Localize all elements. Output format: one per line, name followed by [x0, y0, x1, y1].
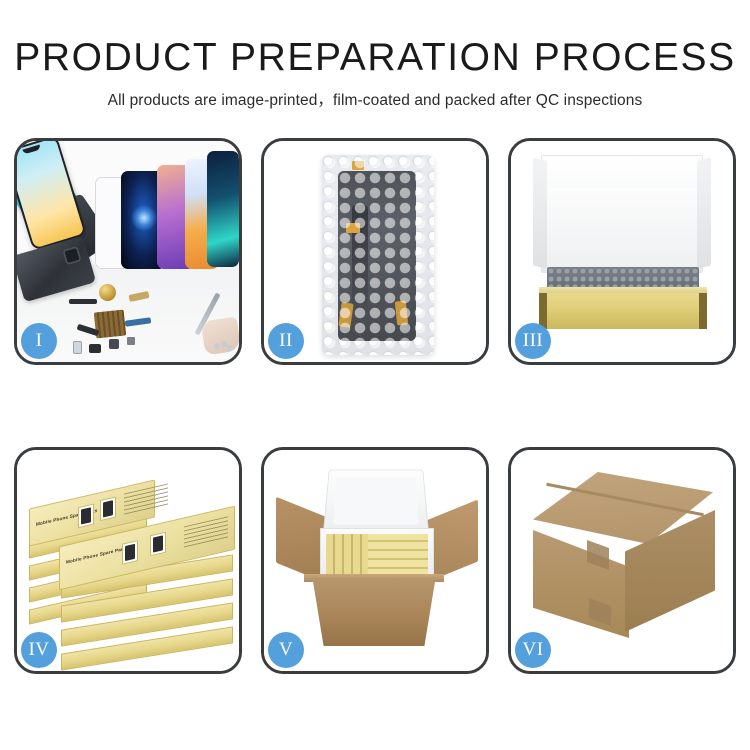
- camera-module-icon: [89, 344, 101, 353]
- box-window-icon: [100, 496, 116, 521]
- vibrator-module-icon: [109, 339, 119, 349]
- box-window-icon: [122, 540, 138, 565]
- bubble-wrap-bag-icon: [322, 155, 434, 355]
- step-badge-1: I: [21, 323, 57, 359]
- process-step-grid: I II: [14, 138, 736, 674]
- speaker-module-icon: [99, 284, 116, 301]
- page-title: PRODUCT PREPARATION PROCESS: [0, 36, 750, 80]
- white-foam-sheet-icon: [547, 187, 697, 269]
- step-badge-5: V: [268, 632, 304, 668]
- foam-lid-icon: [323, 469, 429, 534]
- process-step-panel-2: II: [261, 138, 489, 365]
- process-step-panel-6: VI: [508, 447, 736, 674]
- box-spec-text-block: [124, 483, 168, 515]
- process-step-panel-4: Mobile Phone Spare Parts Mobile Phone Sp…: [14, 447, 242, 674]
- carton-left-face-icon: [533, 530, 629, 638]
- small-part-icon: [127, 337, 135, 345]
- box-window-icon: [78, 504, 94, 529]
- box-label-text: Mobile Phone Spare Parts: [66, 546, 127, 565]
- sim-tray-icon: [73, 341, 82, 354]
- screws-icon: [213, 341, 233, 351]
- step-badge-4: IV: [21, 632, 57, 668]
- carton-front-panel-icon: [304, 578, 444, 646]
- box-window-icon: [150, 532, 166, 557]
- process-step-panel-5: V: [261, 447, 489, 674]
- box-stack: Mobile Phone Spare Parts Mobile Phone Sp…: [25, 464, 237, 660]
- step-badge-2: II: [268, 323, 304, 359]
- step-badge-3: III: [515, 323, 551, 359]
- box-front-panel-icon: [539, 293, 707, 329]
- page-subtitle: All products are image-printed，film-coat…: [0, 88, 750, 110]
- chip-grid-icon: [94, 310, 127, 339]
- box-spec-text-block: [184, 516, 228, 548]
- process-step-panel-1: I: [14, 138, 242, 365]
- page-header: PRODUCT PREPARATION PROCESS All products…: [0, 36, 750, 110]
- box-side-flap-icon: [697, 158, 711, 269]
- box-side-flap-icon: [533, 158, 547, 269]
- flex-cable-icon: [69, 299, 97, 304]
- teal-gradient-phone-icon: [207, 151, 239, 267]
- bubble-gloss-overlay: [322, 155, 434, 355]
- product-preparation-process-page: PRODUCT PREPARATION PROCESS All products…: [0, 0, 750, 750]
- step-badge-6: VI: [515, 632, 551, 668]
- packed-yellow-boxes-icon: [368, 534, 428, 576]
- process-step-panel-3: III: [508, 138, 736, 365]
